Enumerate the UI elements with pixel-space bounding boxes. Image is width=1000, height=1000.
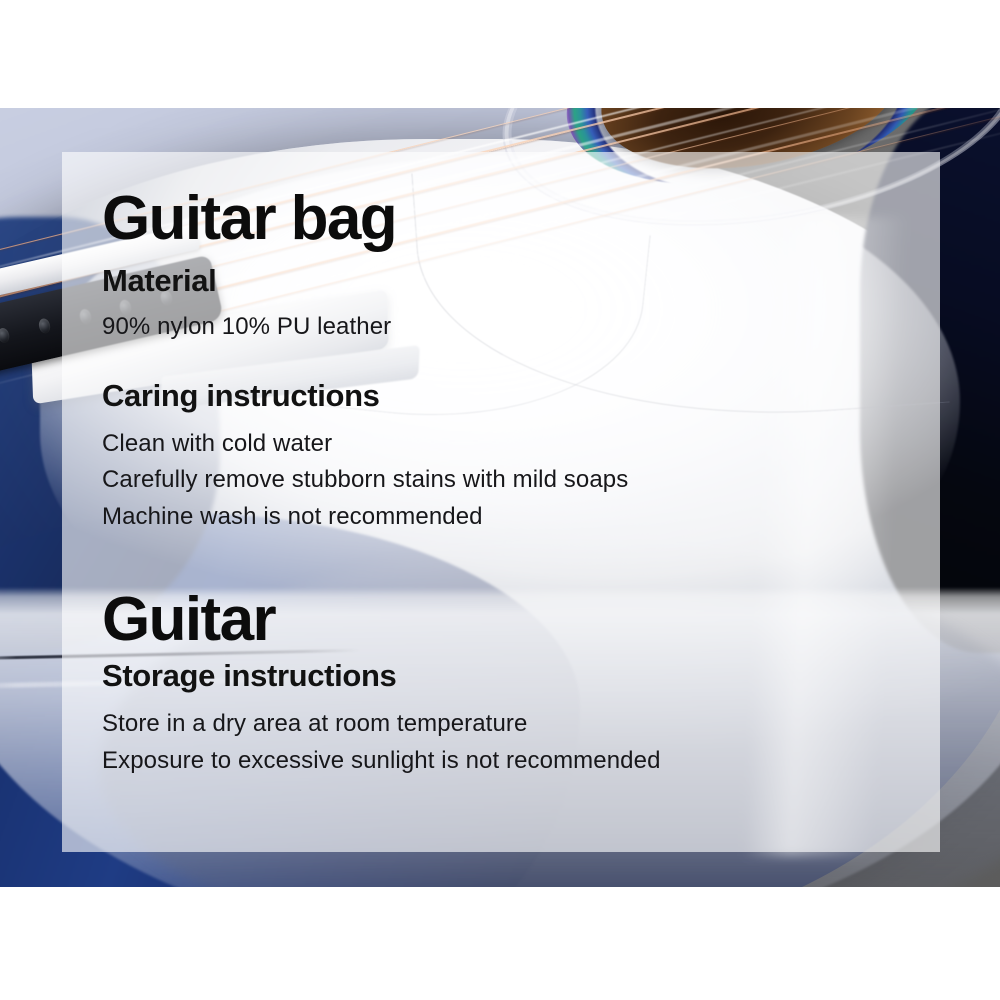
info-panel: Guitar bag Material 90% nylon 10% PU lea… — [62, 152, 940, 852]
caring-line-1: Clean with cold water — [102, 426, 900, 462]
group-heading-caring-instructions: Caring instructions — [102, 379, 900, 414]
group-heading-material: Material — [102, 264, 900, 299]
section-title-guitar: Guitar — [102, 589, 900, 651]
group-heading-storage-instructions: Storage instructions — [102, 659, 900, 694]
material-line-1: 90% nylon 10% PU leather — [102, 309, 900, 345]
product-info-card: Guitar bag Material 90% nylon 10% PU lea… — [0, 0, 1000, 1000]
caring-line-3: Machine wash is not recommended — [102, 499, 900, 535]
storage-line-1: Store in a dry area at room temperature — [102, 706, 900, 742]
section-title-guitar-bag: Guitar bag — [102, 188, 900, 250]
storage-line-2: Exposure to excessive sunlight is not re… — [102, 743, 900, 779]
caring-line-2: Carefully remove stubborn stains with mi… — [102, 462, 900, 498]
